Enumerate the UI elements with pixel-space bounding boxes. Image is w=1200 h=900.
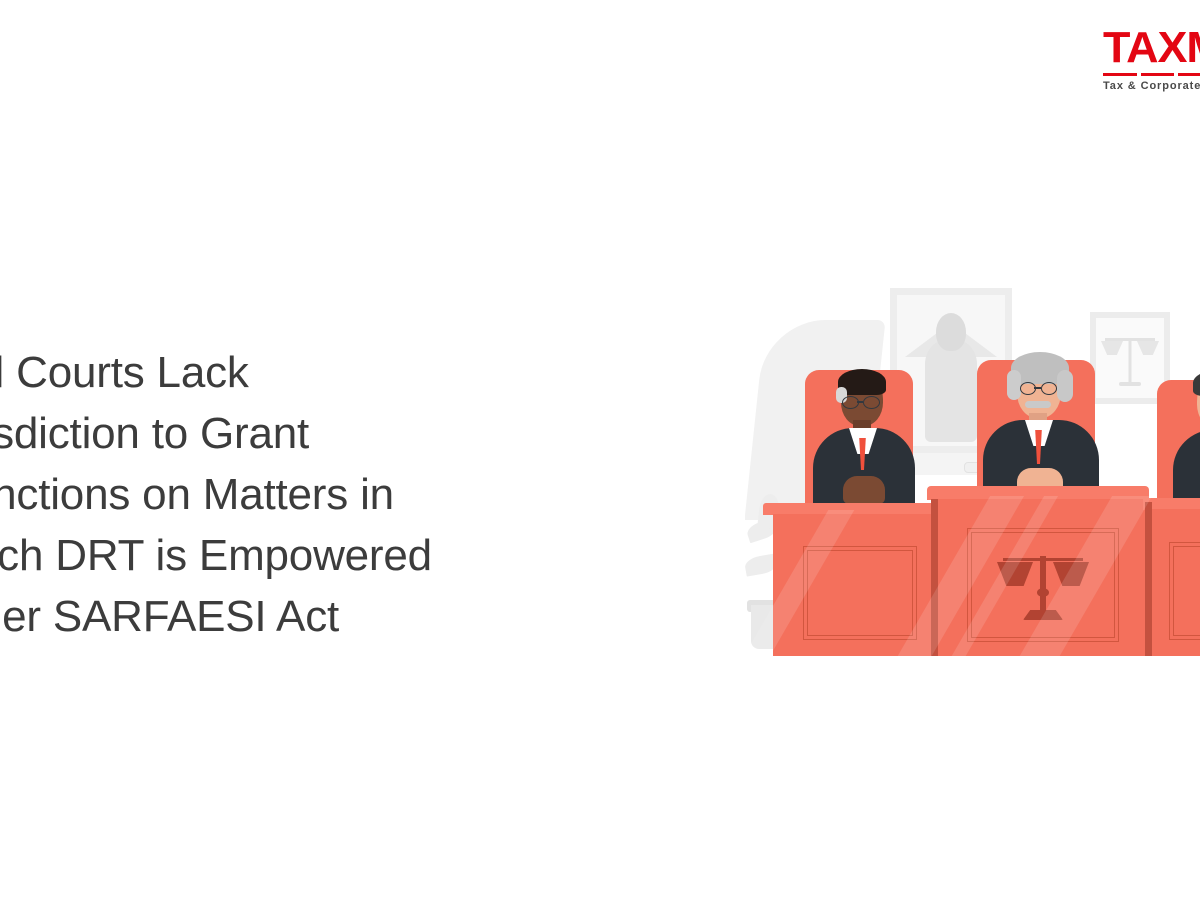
bench-center-top [927,486,1149,500]
logo-tagline: Tax & Corporate Laws [1103,80,1200,92]
bench-emblem-knob [1037,588,1049,597]
judge-center-glasses [1041,382,1057,395]
headline-line-1: Civil Courts Lack [0,342,622,403]
bench-left-panel-inner [807,550,913,636]
bench-divider-left [931,499,938,656]
article-headline: Civil Courts Lack Jurisdiction to Grant … [0,342,622,647]
bench-right-panel-inner [1173,546,1200,636]
scales-pan-left [1101,341,1123,355]
judge-left-glasses-bridge [857,401,863,403]
headline-line-2: Jurisdiction to Grant [0,403,622,464]
bench-emblem-post [1040,556,1046,614]
judge-left-hands [843,476,885,504]
logo-rule-segment [1178,73,1200,76]
scales-pan-right [1137,341,1159,355]
judge-center-hair-side [1007,370,1021,400]
judge-center-glasses-bridge [1034,387,1041,389]
headline-line-3: Injunctions on Matters in [0,464,622,525]
taxmann-logo[interactable]: TAXMANN Tax & Corporate Laws [1103,26,1200,92]
scales-post [1129,338,1132,384]
bench-divider-right [1145,502,1152,656]
logo-rule-group [1103,73,1200,76]
banner-canvas: TAXMANN Tax & Corporate Laws Civil Court… [0,0,1200,900]
judge-left-glasses [863,396,880,409]
portrait-head [936,313,966,351]
scales-base [1119,382,1141,386]
courtroom-illustration [745,270,1200,670]
portrait-figure [925,338,977,442]
judge-center-mustache [1025,401,1051,408]
illustration-floor [745,656,1200,670]
logo-rule-segment [1141,73,1175,76]
logo-rule-segment [1103,73,1137,76]
judge-center-hair-side [1057,370,1073,402]
headline-line-4: Which DRT is Empowered [0,525,622,586]
logo-wordmark: TAXMANN [1103,26,1200,70]
headline-line-5: Under SARFAESI Act [0,586,622,647]
